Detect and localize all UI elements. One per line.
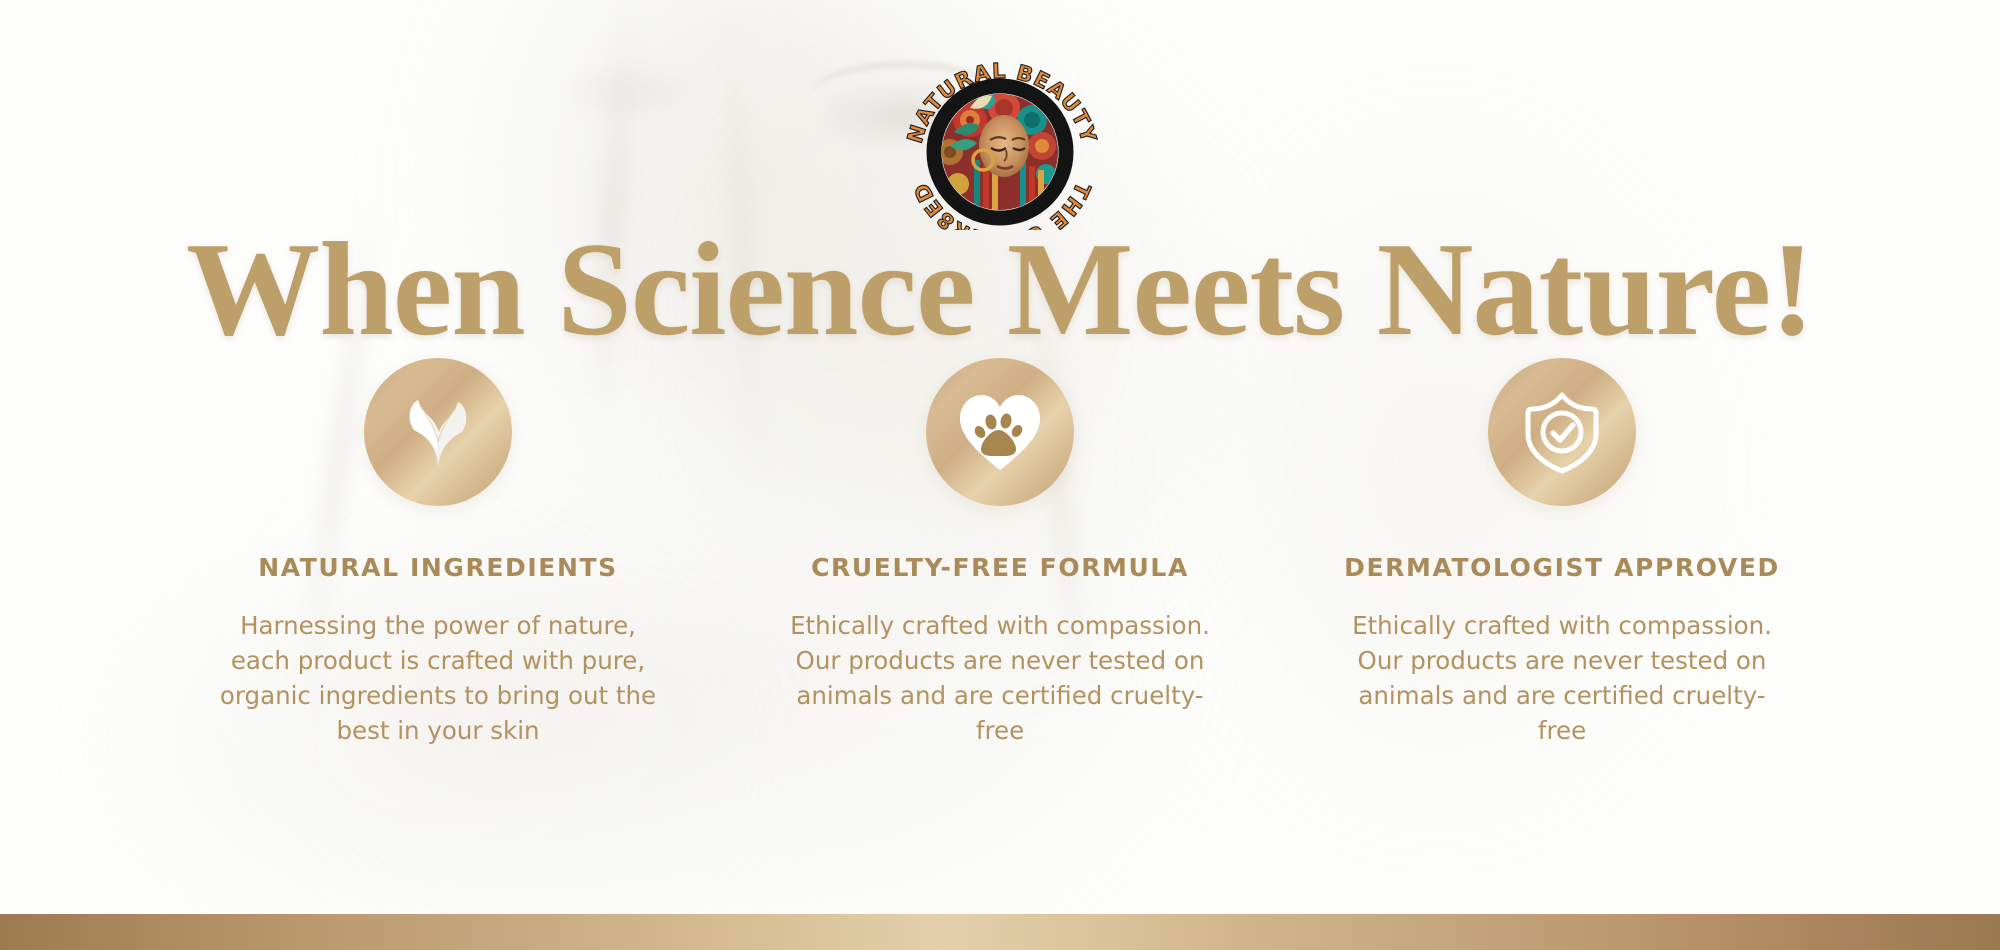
feature-item-natural-ingredients: NATURAL INGREDIENTS Harnessing the power… (203, 358, 673, 748)
feature-list: NATURAL INGREDIENTS Harnessing the power… (100, 358, 1900, 748)
brand-logo[interactable]: NATURAL BEAUTY THE UNDER8ED (886, 42, 1114, 230)
feature-description: Ethically crafted with compassion. Our p… (1335, 608, 1790, 748)
feature-title: CRUELTY-FREE FORMULA (811, 553, 1189, 582)
feature-description: Ethically crafted with compassion. Our p… (773, 608, 1228, 748)
page-title: When Science Meets Nature! (0, 222, 2000, 356)
feature-item-cruelty-free-formula: CRUELTY-FREE FORMULA Ethically crafted w… (765, 358, 1235, 748)
feature-description: Harnessing the power of nature, each pro… (211, 608, 666, 748)
feature-title: NATURAL INGREDIENTS (258, 553, 618, 582)
heart-paw-icon (926, 358, 1074, 506)
landing-page-hero: NATURAL BEAUTY THE UNDER8ED (0, 0, 2000, 950)
shield-check-icon (1488, 358, 1636, 506)
feature-title: DERMATOLOGIST APPROVED (1344, 553, 1780, 582)
leaf-icon (364, 358, 512, 506)
feature-item-dermatologist-approved: DERMATOLOGIST APPROVED Ethically crafted… (1327, 358, 1797, 748)
footer-gold-bar (0, 914, 2000, 950)
